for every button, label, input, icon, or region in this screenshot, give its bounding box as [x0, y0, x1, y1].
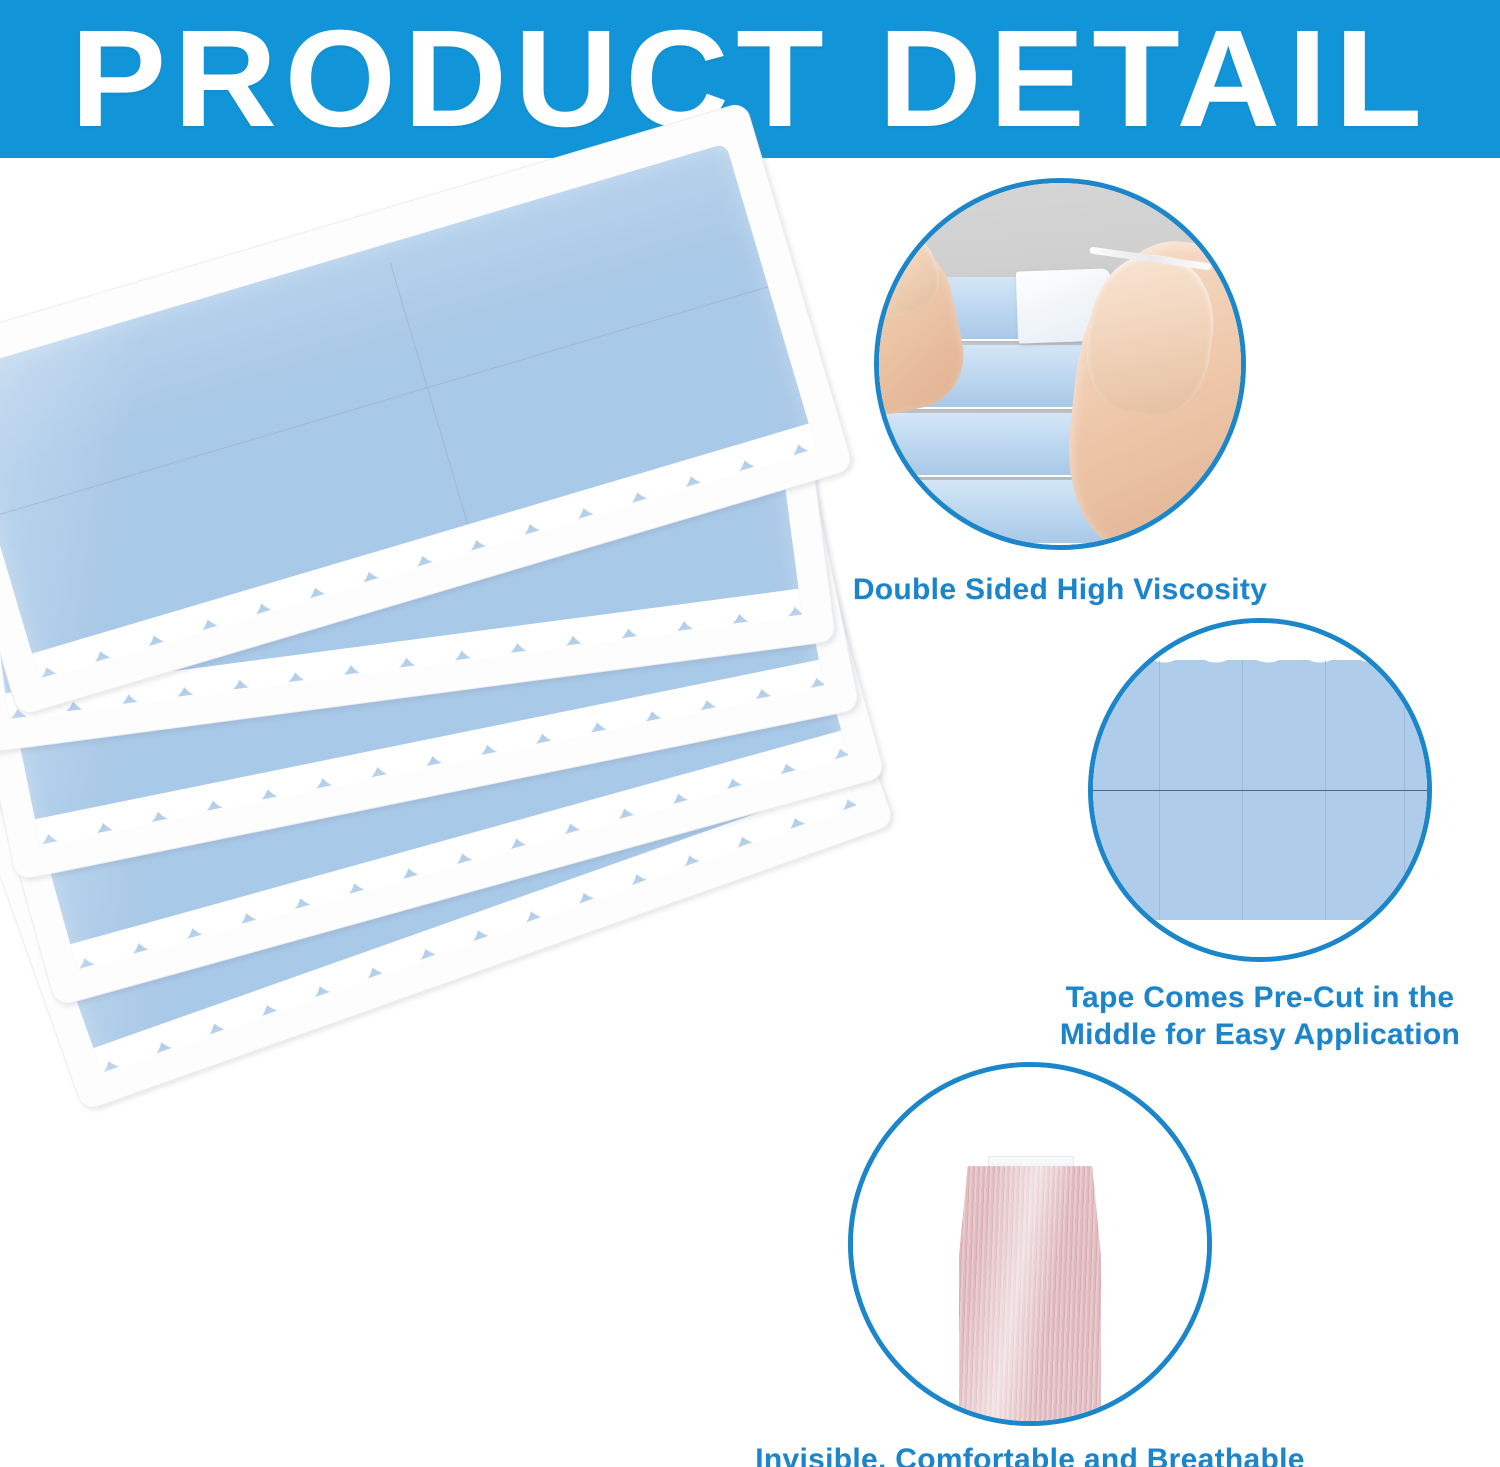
- tape-precut-line: [0, 287, 768, 518]
- feature-invisible-comfortable-breathable: Invisible, Comfortable and Breathable: [700, 1062, 1360, 1467]
- feature-photo-hair-extension-weft: [848, 1062, 1212, 1426]
- feature-caption: Double Sided High Viscosity: [825, 572, 1295, 609]
- photo-fingers-peeling-tape: [879, 183, 1241, 545]
- feature-caption-line: Tape Comes Pre-Cut in the: [1025, 980, 1495, 1017]
- feature-photo-fingers-peeling-tape: [874, 178, 1246, 550]
- tape-precut-line: [1088, 790, 1432, 791]
- feature-caption: Tape Comes Pre-Cut in the Middle for Eas…: [1025, 980, 1495, 1053]
- photo-pink-hair-extension-weft: [853, 1067, 1207, 1421]
- hair-strands: [959, 1166, 1101, 1426]
- feature-caption-line: Middle for Easy Application: [1025, 1017, 1495, 1054]
- tape-band-closeup: [1088, 660, 1432, 921]
- feature-photo-tape-precut-closeup: [1088, 618, 1432, 962]
- product-detail-page: PRODUCT DETAIL: [0, 0, 1500, 1467]
- tape-seam-line: [389, 263, 469, 532]
- feature-double-sided-high-viscosity: Double Sided High Viscosity: [825, 178, 1295, 609]
- feature-caption-line: Invisible, Comfortable and Breathable: [700, 1442, 1360, 1467]
- photo-tape-precut-closeup: [1093, 623, 1427, 957]
- feature-caption-line: Double Sided High Viscosity: [825, 572, 1295, 609]
- feature-caption: Invisible, Comfortable and Breathable: [700, 1442, 1360, 1467]
- feature-pre-cut-middle: Tape Comes Pre-Cut in the Middle for Eas…: [1025, 618, 1495, 1053]
